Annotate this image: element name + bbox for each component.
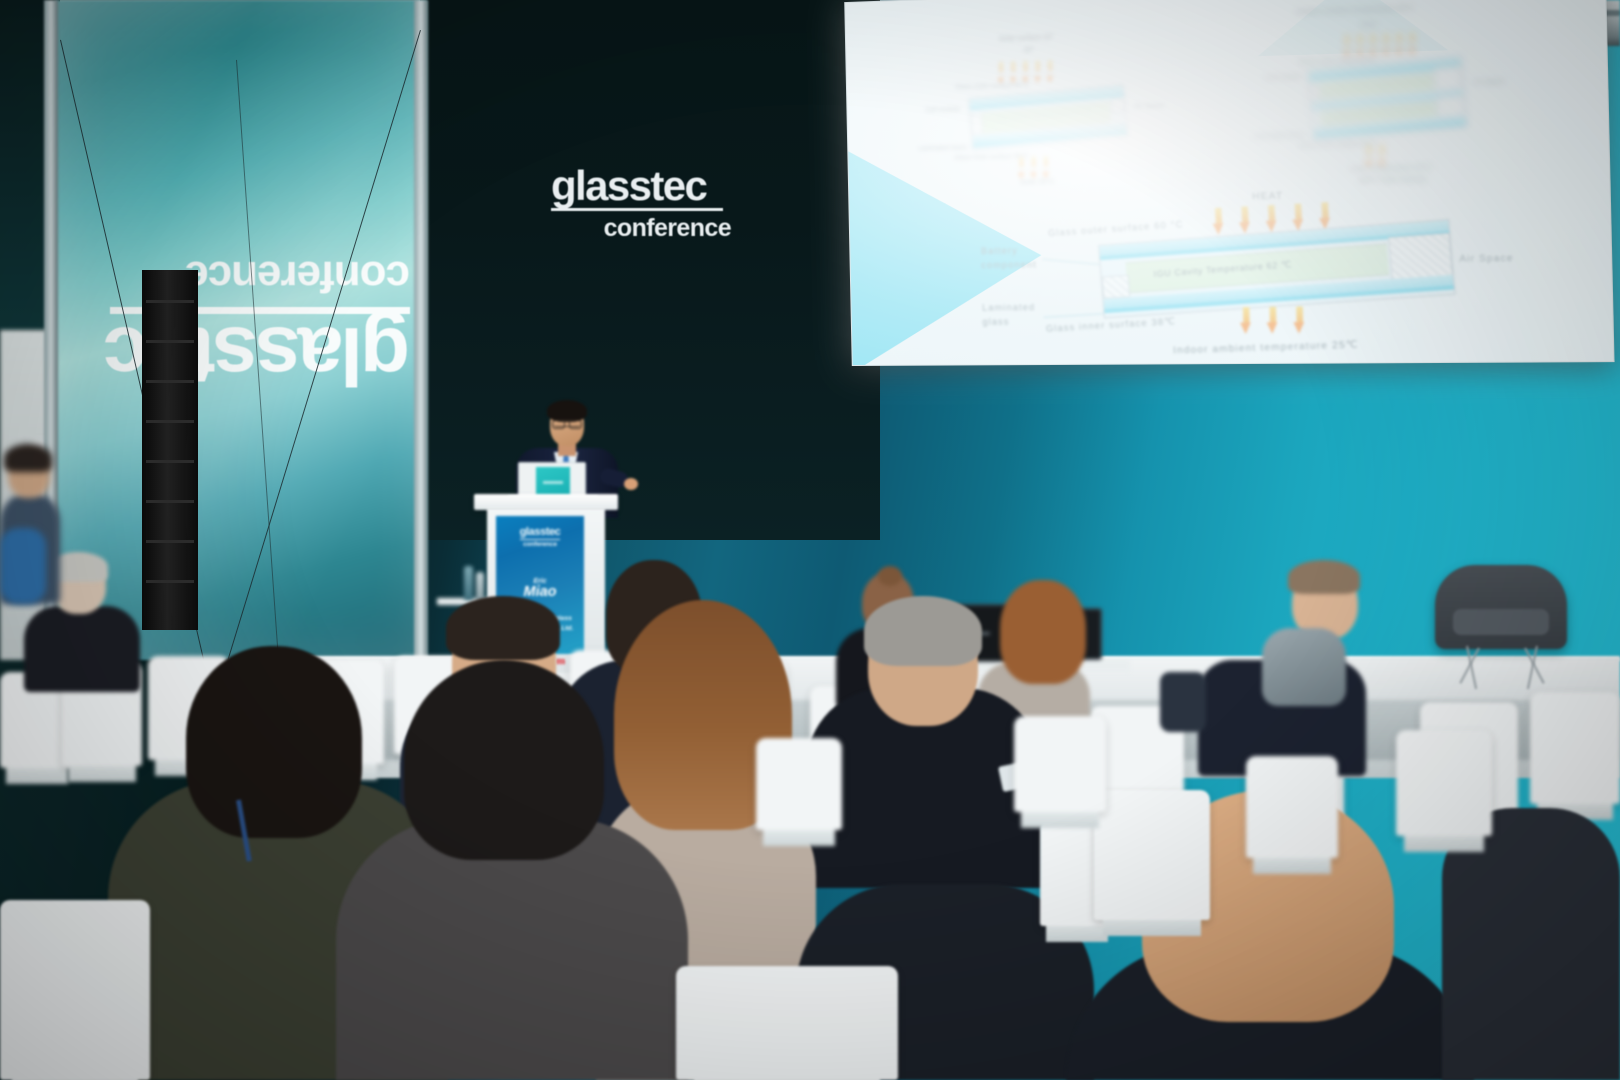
- wall-logo-line2: conference: [551, 214, 731, 243]
- chair-front-3[interactable]: [676, 966, 898, 1080]
- attendee-hair-4: [1288, 560, 1360, 594]
- water-bottle: [464, 566, 473, 600]
- diagram-top-right: Outdoor ambient temperature 35°C Heat Gl…: [1257, 1, 1544, 187]
- tr-label-bottom2: BIPV Triple Glazing: [1359, 176, 1425, 185]
- projection-screen: Solar surface 20° 40° Glass outer surfac…: [844, 0, 1614, 366]
- front-attendee-hair-1: [446, 596, 560, 660]
- chair-front-8[interactable]: [1014, 716, 1106, 812]
- tl-arrows-top: [997, 61, 1054, 80]
- standing-attendee-hair: [4, 444, 52, 472]
- line-array-speaker: [142, 270, 198, 630]
- messe-duesseldorf-logo: m: [556, 655, 565, 667]
- tr-arrows-top: [1343, 32, 1416, 52]
- attendee-hair-5: [864, 596, 982, 666]
- main-label-left2-a: Laminated: [982, 302, 1035, 313]
- main-leader-2: [1044, 313, 1108, 318]
- main-arrows-bottom: [1240, 306, 1306, 334]
- chair-front-7[interactable]: [1396, 730, 1492, 836]
- podium-brand-line2: conference: [523, 541, 557, 548]
- attendee-backpack-4: [1262, 628, 1346, 706]
- attendee-body-1: [24, 606, 140, 692]
- main-heat-label: HEAT: [1252, 190, 1283, 202]
- chair-front-6[interactable]: [1246, 756, 1338, 858]
- tl-label-left1: Cell module: [925, 106, 960, 116]
- main-label-left1-a: Battery: [981, 245, 1018, 256]
- laptop-screen[interactable]: [536, 467, 570, 497]
- tl-label-right: Air Space: [1134, 102, 1164, 112]
- glass-frame-right: [414, 0, 428, 700]
- main-label-bottom: Indoor ambient temperature 25℃: [1173, 339, 1359, 356]
- attendee-bag: [1160, 672, 1206, 732]
- presenter-laptop[interactable]: [518, 462, 586, 498]
- glasstec-wall-logo: glasstec conference: [551, 166, 731, 243]
- main-label-left1-b: component: [981, 259, 1037, 270]
- main-label-inner: Glass inner surface 38℃: [1046, 315, 1177, 337]
- podium-brand-line1: glasstec: [520, 527, 561, 540]
- main-label-right: Air Space: [1459, 251, 1513, 266]
- attendee-hair-bun-2: [878, 566, 902, 586]
- chair-back-13[interactable]: [1530, 692, 1620, 804]
- podium-speaker-lastname: Miao: [523, 585, 556, 600]
- tr-label-left1: Cell module: [1265, 74, 1302, 84]
- chair-front-9[interactable]: [756, 738, 842, 830]
- eyeglasses-icon: [553, 420, 581, 427]
- chair-front-1[interactable]: [0, 900, 150, 1080]
- front-attendee-hair-4: [186, 646, 362, 838]
- standing-attendee-backpack: [0, 528, 46, 604]
- tr-label-top2: Heat: [1360, 21, 1376, 29]
- tl-label-top2: 40°: [1024, 47, 1035, 54]
- tr-label-left2: Laminated Glass: [1253, 132, 1305, 142]
- front-attendee-hair-5: [404, 660, 604, 860]
- tl-label-top1: Solar surface 20°: [999, 34, 1054, 43]
- main-label-outer: Glass outer surface 60 °C: [1048, 218, 1185, 241]
- chair-front-5[interactable]: [1094, 790, 1210, 920]
- speaker-hand: [624, 478, 638, 490]
- tl-label-outer: Glass outer surface 60°C: [955, 82, 1029, 93]
- main-label-left1: Battery component: [981, 244, 1037, 272]
- wall-logo-line1: glasstec: [551, 166, 731, 206]
- diagram-top-left: Solar surface 20° 40° Glass outer surfac…: [938, 29, 1210, 189]
- water-glass: [476, 572, 484, 600]
- conference-photo-scene: 10 A 79 glasstec conference glasstec con…: [0, 0, 1620, 1080]
- attendee-head-3: [1000, 580, 1086, 684]
- main-label-left2: Laminated glass: [982, 301, 1036, 329]
- tl-arrows-bottom: [1018, 156, 1050, 174]
- armchair-seat: [1453, 609, 1549, 635]
- tr-label-bottom1: Inner Temperature 25°C: [1350, 164, 1431, 173]
- tl-label-left2: Laminated Glass: [918, 144, 967, 154]
- speaker-hair: [547, 400, 587, 422]
- stage-armchair: [1435, 565, 1567, 649]
- dark-wall-panel: [420, 0, 880, 540]
- tr-label-right: Air Space: [1473, 78, 1504, 88]
- tl-label-bottom1: Inner 25°C: [1020, 179, 1055, 187]
- main-label-left2-b: glass: [982, 316, 1009, 326]
- tr-arrows-bottom: [1365, 144, 1386, 162]
- diagram-main-bottom: HEAT Glass outer surface 60 °C Battery c…: [980, 185, 1559, 358]
